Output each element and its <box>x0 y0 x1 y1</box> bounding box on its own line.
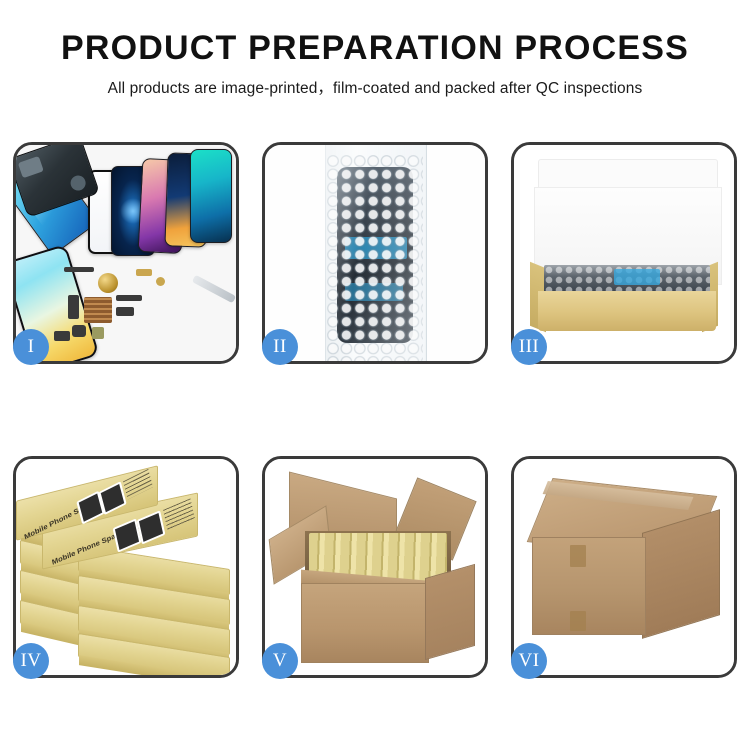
page-header: PRODUCT PREPARATION PROCESS All products… <box>0 0 750 98</box>
box-screen-graphic <box>137 510 166 544</box>
antenna-cable-part <box>116 295 142 301</box>
step-badge-4: IV <box>13 643 49 679</box>
camera-module-part <box>72 325 86 337</box>
step-badge-1: I <box>13 329 49 365</box>
page-subtitle: All products are image-printed，film-coat… <box>0 76 750 98</box>
sim-tray-part <box>68 295 79 319</box>
process-step-3: III <box>511 142 737 364</box>
step-badge-5: V <box>262 643 298 679</box>
speaker-part <box>116 307 134 316</box>
page-title: PRODUCT PREPARATION PROCESS <box>0 30 750 67</box>
step-4-image: Mobile Phone Spare Parts Mobile Phone Sp… <box>16 459 236 675</box>
carton-tab-upper <box>570 545 586 567</box>
process-step-2: II <box>262 142 488 364</box>
step-2-image <box>265 145 485 361</box>
box-front-kraft <box>538 291 716 331</box>
step-badge-6: VI <box>511 643 547 679</box>
sealed-carton-front <box>532 537 646 635</box>
box-spec-lines <box>163 498 195 530</box>
box-spec-lines <box>123 469 153 500</box>
box-stack: Mobile Phone Spare Parts Mobile Phone Sp… <box>16 459 236 675</box>
sensor-part <box>92 327 104 339</box>
box-screen-graphic <box>98 481 126 515</box>
phone-teal-gradient <box>190 149 232 243</box>
step-badge-3: III <box>511 329 547 365</box>
carton-tab-lower <box>570 611 586 631</box>
process-step-grid: I II III <box>13 142 737 678</box>
step-6-image <box>514 459 734 675</box>
flex-cable-part <box>64 267 94 272</box>
step-3-image <box>514 145 734 361</box>
tweezers-tool <box>192 275 236 304</box>
process-step-6: VI <box>511 456 737 678</box>
carton-side-face <box>425 564 475 660</box>
blue-label-in-box <box>614 269 660 285</box>
vibration-motor-part <box>98 273 118 293</box>
screw-set-part <box>54 331 70 341</box>
chip-array-part <box>84 297 112 323</box>
process-step-4: Mobile Phone Spare Parts Mobile Phone Sp… <box>13 456 239 678</box>
plastic-sheen <box>325 145 425 361</box>
button-part <box>156 277 165 286</box>
carton-front-face <box>301 583 429 663</box>
gold-connector-part <box>136 269 152 276</box>
process-step-5: V <box>262 456 488 678</box>
product-preparation-page: PRODUCT PREPARATION PROCESS All products… <box>0 0 750 750</box>
step-badge-2: II <box>262 329 298 365</box>
step-5-image <box>265 459 485 675</box>
step-1-image <box>16 145 236 361</box>
process-step-1: I <box>13 142 239 364</box>
sealed-carton-side <box>642 509 720 639</box>
